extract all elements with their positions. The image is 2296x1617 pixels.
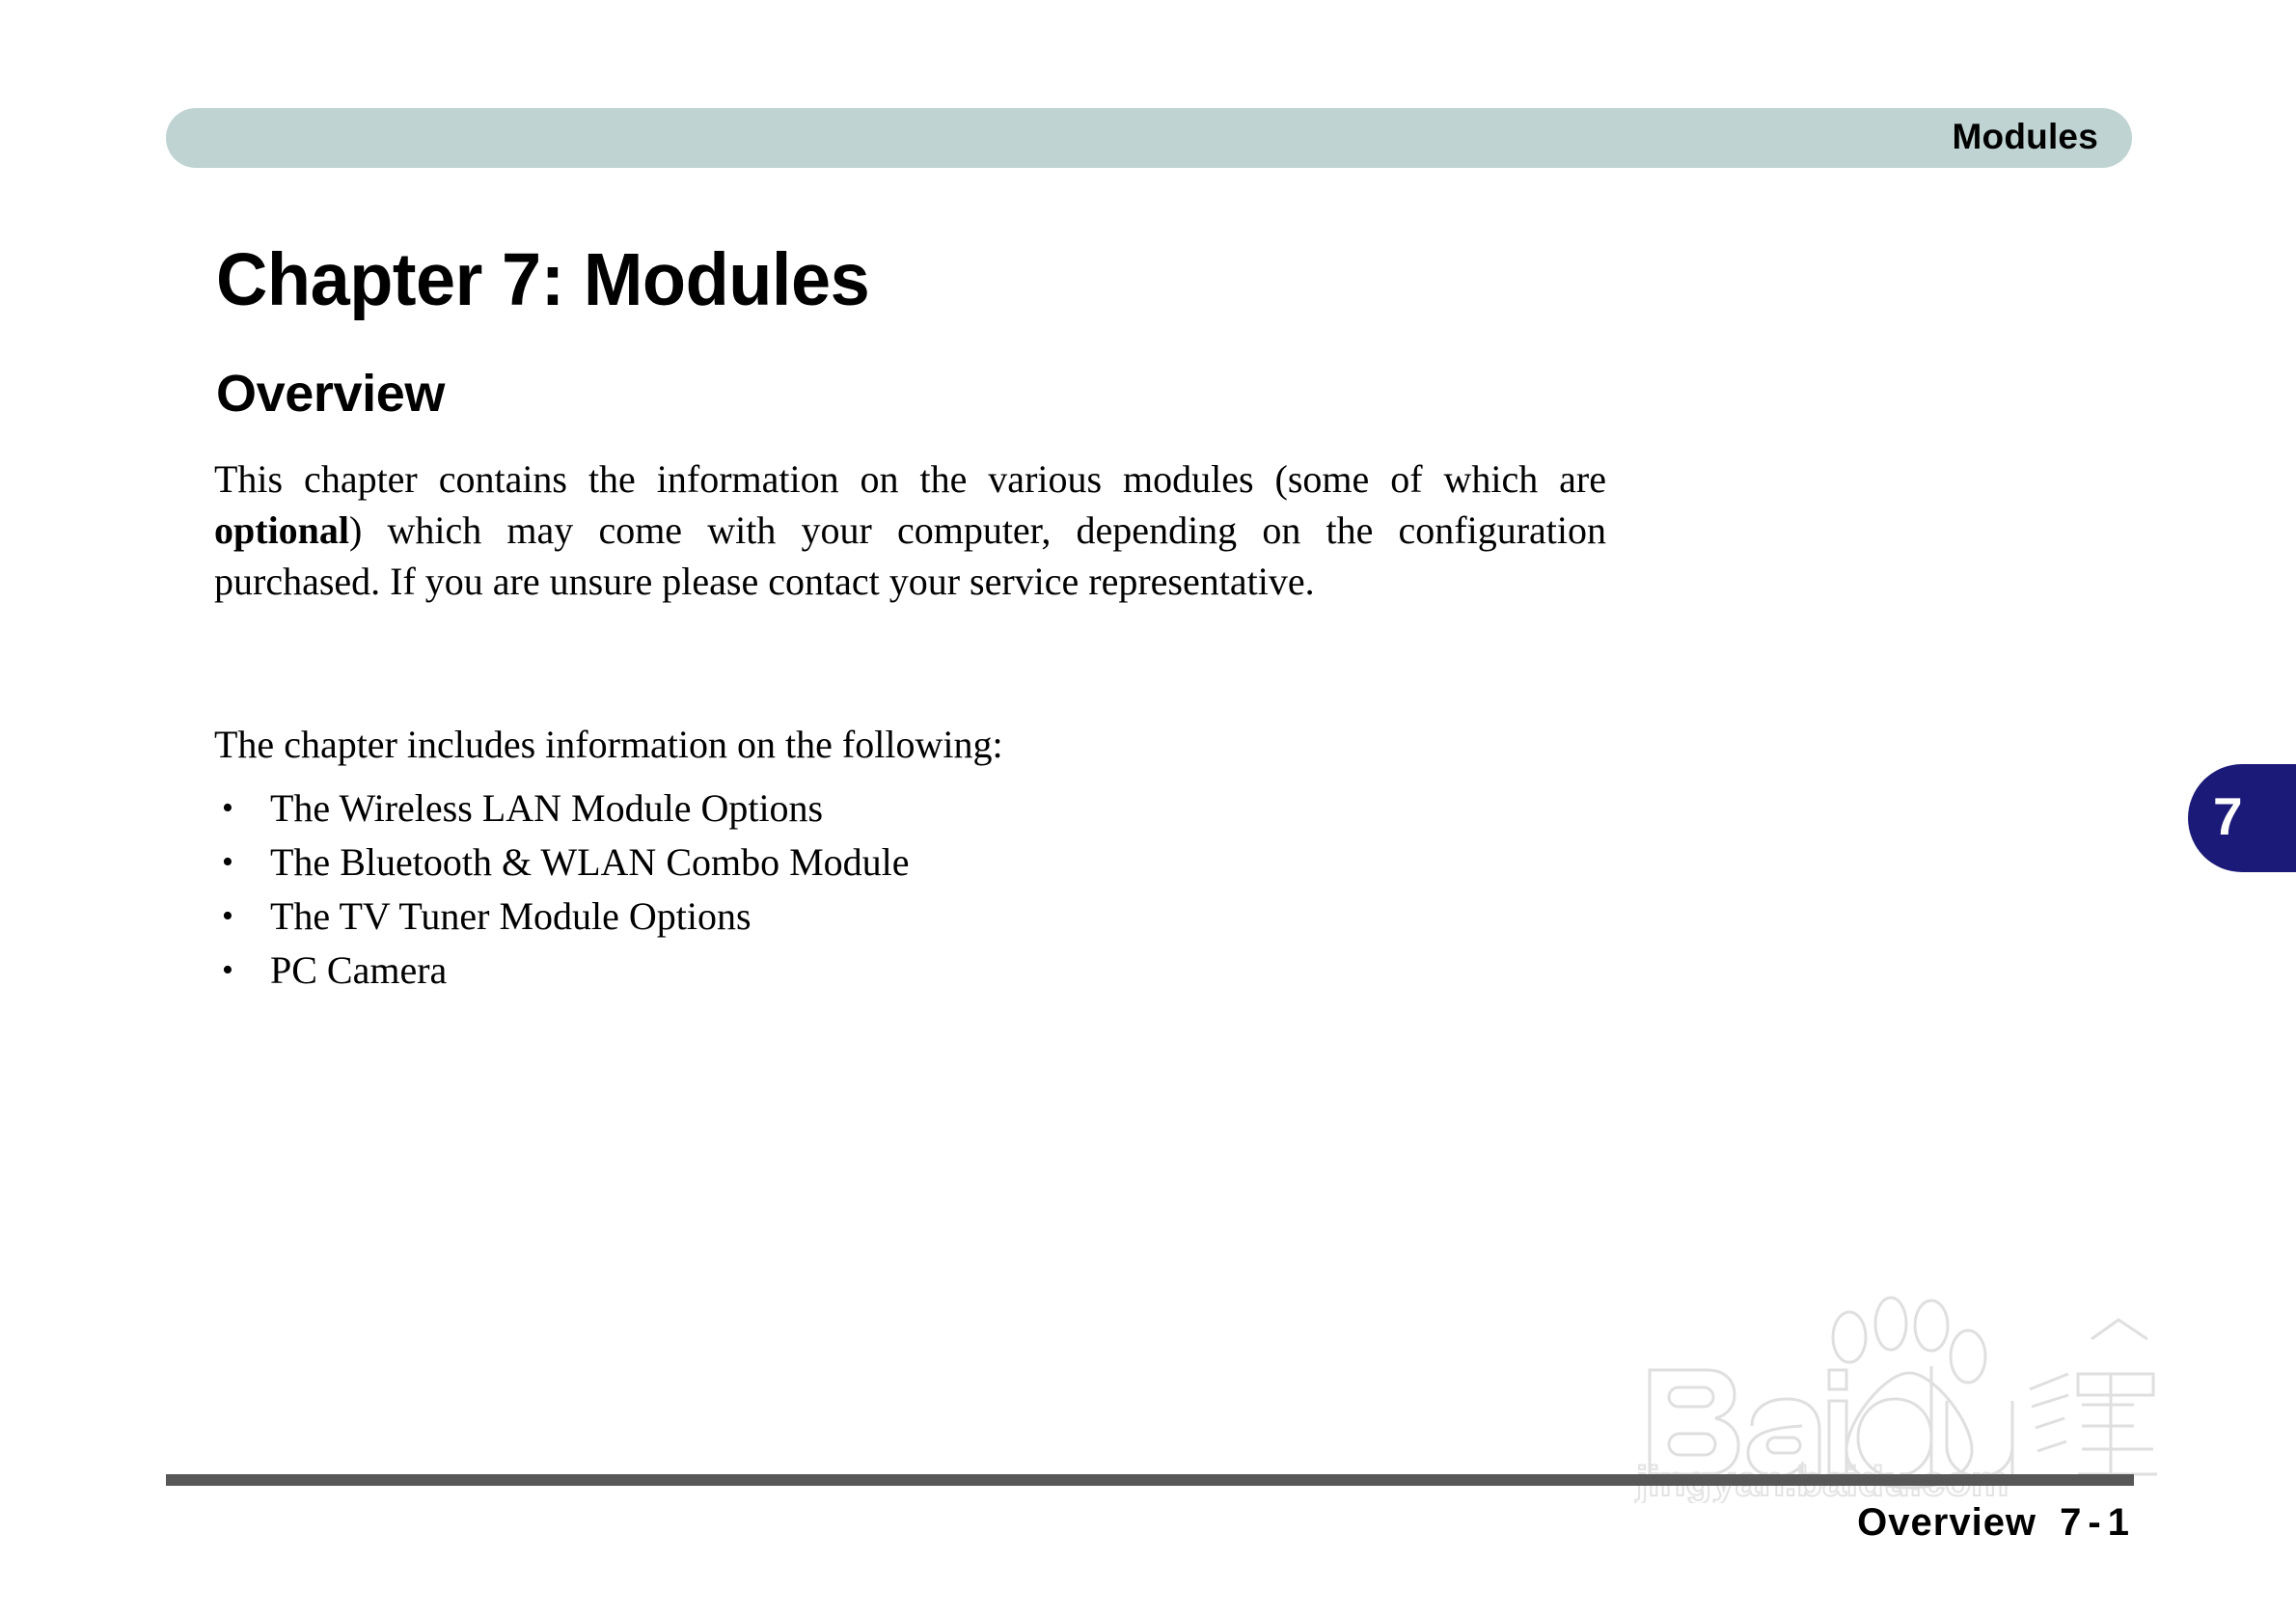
footer-section-label: Overview [1857,1501,2036,1544]
bullet-icon: • [222,890,233,944]
baidu-jingyan-watermark: jingyan.baidu.com [1632,1281,2173,1503]
section-heading-overview: Overview [216,366,445,422]
list-item-label: The Wireless LAN Module Options [270,786,823,830]
running-header-title: Modules [1953,117,2098,157]
running-header-banner: Modules [166,108,2132,168]
list-item: • The Bluetooth & WLAN Combo Module [214,836,910,890]
chapter-tab-number: 7 [2213,790,2243,843]
footer-page-locator: Overview 7-1 [1857,1501,2130,1545]
document-page: Modules Chapter 7: Modules Overview This… [0,0,2296,1617]
bullet-icon: • [222,781,233,836]
list-item-label: The TV Tuner Module Options [270,894,752,938]
chapter-title: Chapter 7: Modules [216,239,869,320]
intro-emphasis-optional: optional [214,508,349,552]
list-item-label: The Bluetooth & WLAN Combo Module [270,840,910,884]
list-item: • The Wireless LAN Module Options [214,781,910,836]
chapter-topic-list: • The Wireless LAN Module Options • The … [214,781,910,998]
chapter-thumb-tab: 7 [2188,764,2296,872]
footer-separator: - [2082,1501,2107,1544]
footer-page-number: 1 [2108,1501,2130,1544]
chapter-includes-paragraph: The chapter includes information on the … [214,719,1606,770]
paw-toe-icon [1833,1312,1866,1362]
list-item: • The TV Tuner Module Options [214,890,910,944]
intro-text-part-1: This chapter contains the information on… [214,457,1606,501]
intro-text-part-2: ) which may come with your computer, dep… [214,508,1606,603]
footer-chapter-number: 7 [2060,1501,2082,1544]
intro-paragraph: This chapter contains the information on… [214,453,1606,607]
bullet-icon: • [222,944,233,998]
list-item-label: PC Camera [270,948,447,992]
bullet-icon: • [222,836,233,890]
list-item: • PC Camera [214,944,910,998]
footer-rule [166,1474,2134,1486]
